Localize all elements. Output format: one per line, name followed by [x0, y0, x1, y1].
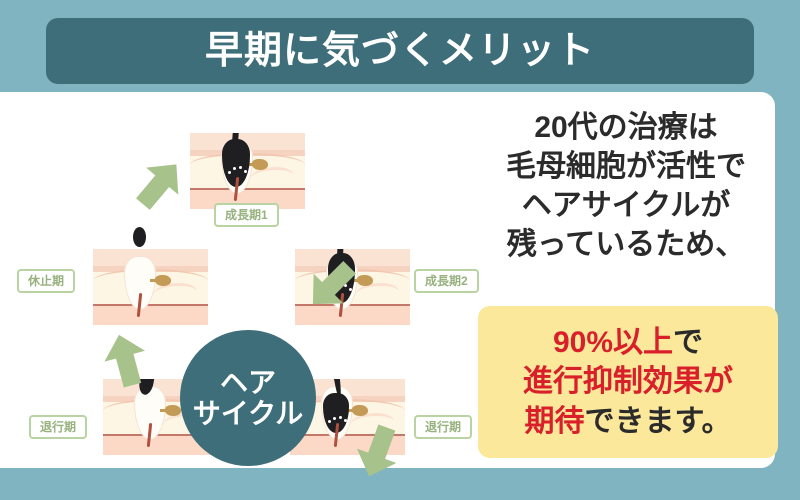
stage-label-catagen-1: 退行期 — [414, 415, 472, 439]
highlight-callout: 90%以上で 進行抑制効果が 期待できます。 — [478, 306, 778, 458]
sebaceous-gland — [155, 275, 171, 286]
shed-hair — [133, 227, 146, 247]
sebaceous-gland — [352, 405, 368, 416]
body-line-3: ヘアサイクルが — [470, 186, 782, 225]
cycle-center-line2: サイクル — [193, 398, 304, 429]
body-line-4: 残っているため、 — [470, 225, 782, 264]
body-copy: 20代の治療は 毛母細胞が活性で ヘアサイクルが 残っているため、 — [470, 108, 782, 264]
body-line-1: 20代の治療は — [470, 108, 782, 147]
blood-vessel-line — [190, 188, 305, 190]
stage-label-anagen-2: 成長期2 — [414, 269, 479, 293]
cycle-arrow-bottomleft-to-left — [100, 330, 152, 392]
cycle-arrow-right-to-bottomright — [352, 422, 404, 482]
callout-line-3-emphasis: 期待 — [525, 405, 585, 438]
cycle-center-line1: ヘア — [220, 367, 276, 398]
cycle-center-label: ヘア サイクル — [180, 330, 316, 466]
header-bar: 早期に気づくメリット — [46, 18, 754, 84]
sebaceous-gland — [252, 159, 268, 170]
callout-line-1-suffix: で — [673, 326, 703, 359]
arrector-muscle — [153, 283, 197, 304]
stage-label-catagen-2: 退行期 — [29, 415, 87, 439]
cycle-arrow-top-to-right — [301, 254, 363, 316]
arrector-muscle — [250, 167, 294, 188]
page-title: 早期に気づくメリット — [205, 32, 595, 70]
cycle-arrow-left-to-top — [128, 154, 190, 216]
sebaceous-gland — [165, 405, 181, 416]
skin-cross-section — [93, 249, 208, 325]
blood-vessel-line — [93, 304, 208, 306]
stage-label-anagen-1: 成長期1 — [214, 203, 279, 227]
stage-illustration-anagen-1 — [190, 133, 305, 209]
callout-percentage: 90%以上 — [553, 326, 673, 359]
stage-label-telogen: 休止期 — [17, 269, 75, 293]
body-line-2: 毛母細胞が活性で — [470, 147, 782, 186]
subcutis-layer — [93, 306, 208, 325]
callout-line-3: 期待できます。 — [525, 402, 732, 442]
callout-line-3-suffix: できます。 — [585, 405, 732, 438]
skin-cross-section — [190, 133, 305, 209]
hair-cycle-diagram: ヘア サイクル — [0, 92, 470, 468]
callout-line-2: 進行抑制効果が — [523, 362, 733, 402]
stage-illustration-telogen — [93, 249, 208, 325]
callout-line-1: 90%以上で — [553, 323, 703, 363]
poster: 早期に気づくメリット ヘア サイクル — [0, 0, 800, 500]
